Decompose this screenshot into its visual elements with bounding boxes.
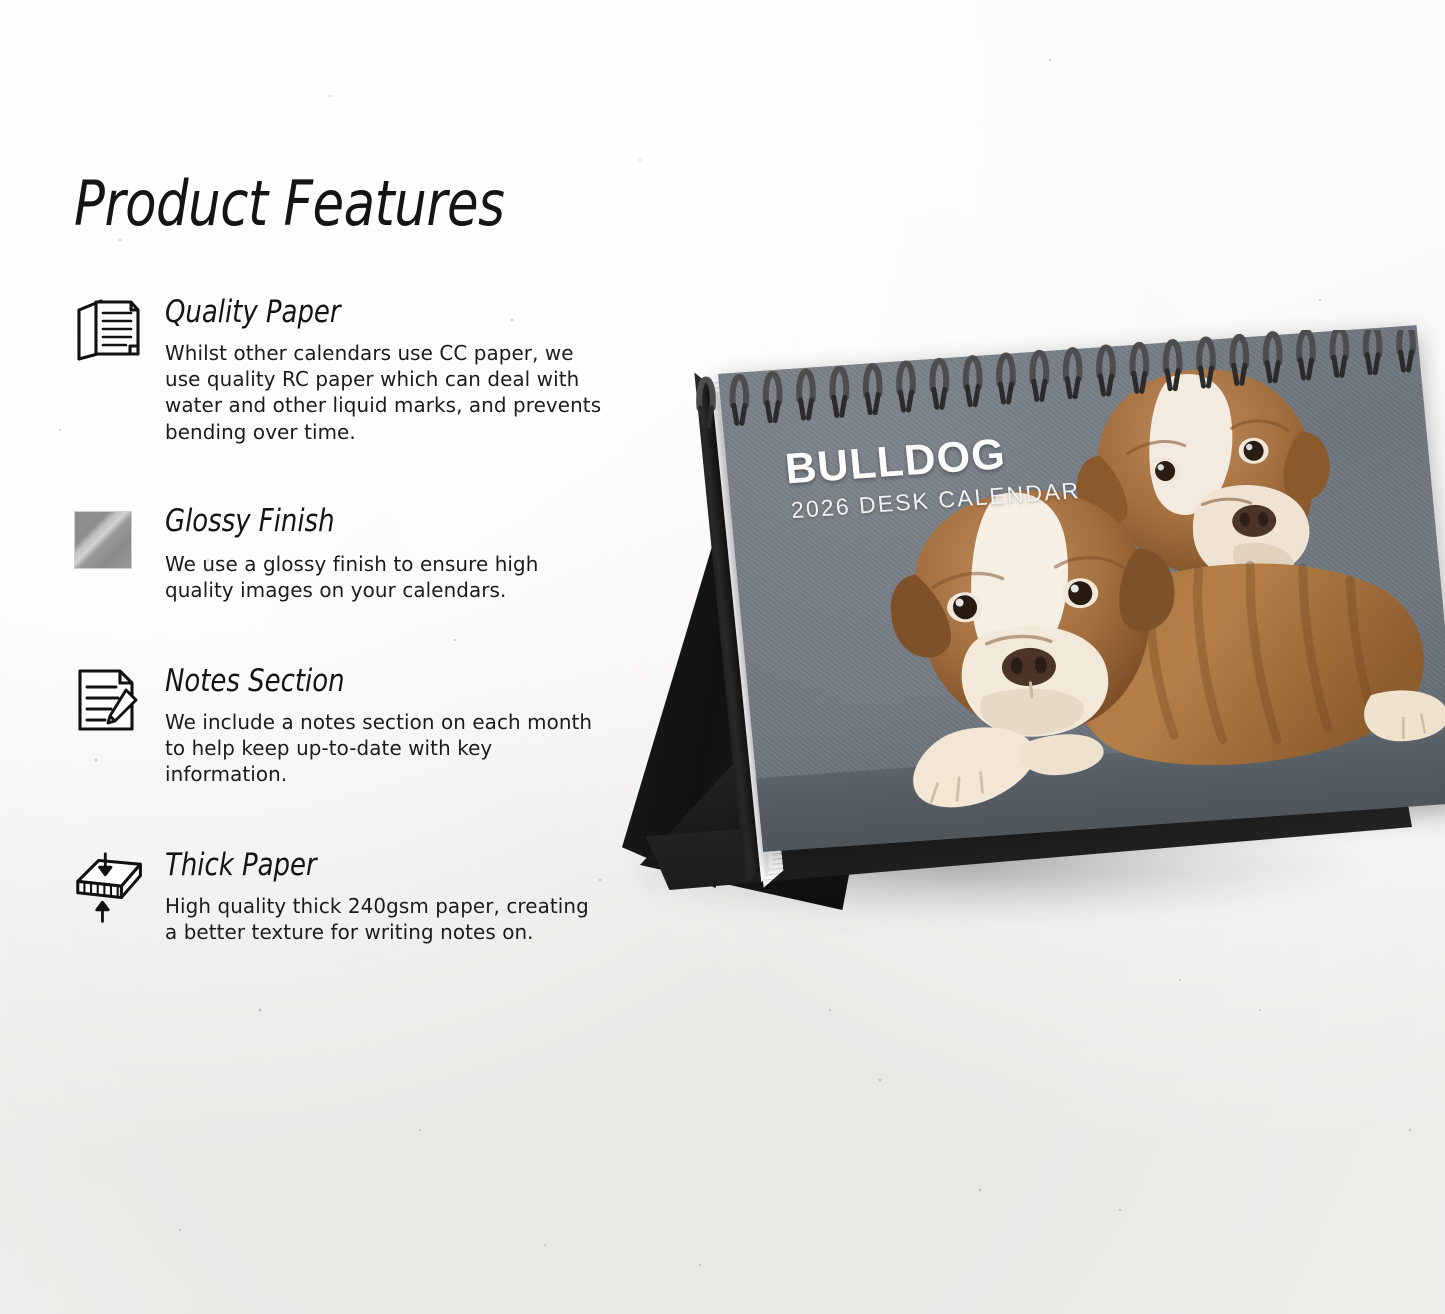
thick-paper-slab-icon (74, 849, 148, 923)
feature-heading: Quality Paper (165, 296, 583, 329)
spiral-wire-binding (600, 330, 1430, 530)
glossy-swatch-icon (74, 505, 148, 579)
feature-body: We use a glossy finish to ensure high qu… (165, 551, 602, 604)
feature-item-thick-paper: Thick Paper High quality thick 240gsm pa… (74, 849, 614, 945)
feature-heading: Thick Paper (165, 849, 583, 882)
feature-heading: Glossy Finish (165, 505, 583, 538)
feature-item-glossy-finish: Glossy Finish We use a glossy finish to … (74, 505, 614, 603)
feature-body: Whilst other calendars use CC paper, we … (165, 340, 602, 446)
feature-item-notes-section: Notes Section We include a notes section… (74, 665, 614, 788)
feature-body: High quality thick 240gsm paper, creatin… (165, 893, 602, 946)
page-title: Product Features (74, 173, 504, 235)
stacked-documents-icon (74, 296, 148, 370)
note-and-pencil-icon (74, 665, 148, 739)
desk-calendar-product-image: BULLDOG 2026 DESK CALENDAR (600, 330, 1430, 970)
glossy-swatch-shape (74, 511, 132, 569)
feature-item-quality-paper: Quality Paper Whilst other calendars use… (74, 296, 614, 445)
feature-body: We include a notes section on each month… (165, 709, 602, 788)
feature-heading: Notes Section (165, 665, 583, 698)
